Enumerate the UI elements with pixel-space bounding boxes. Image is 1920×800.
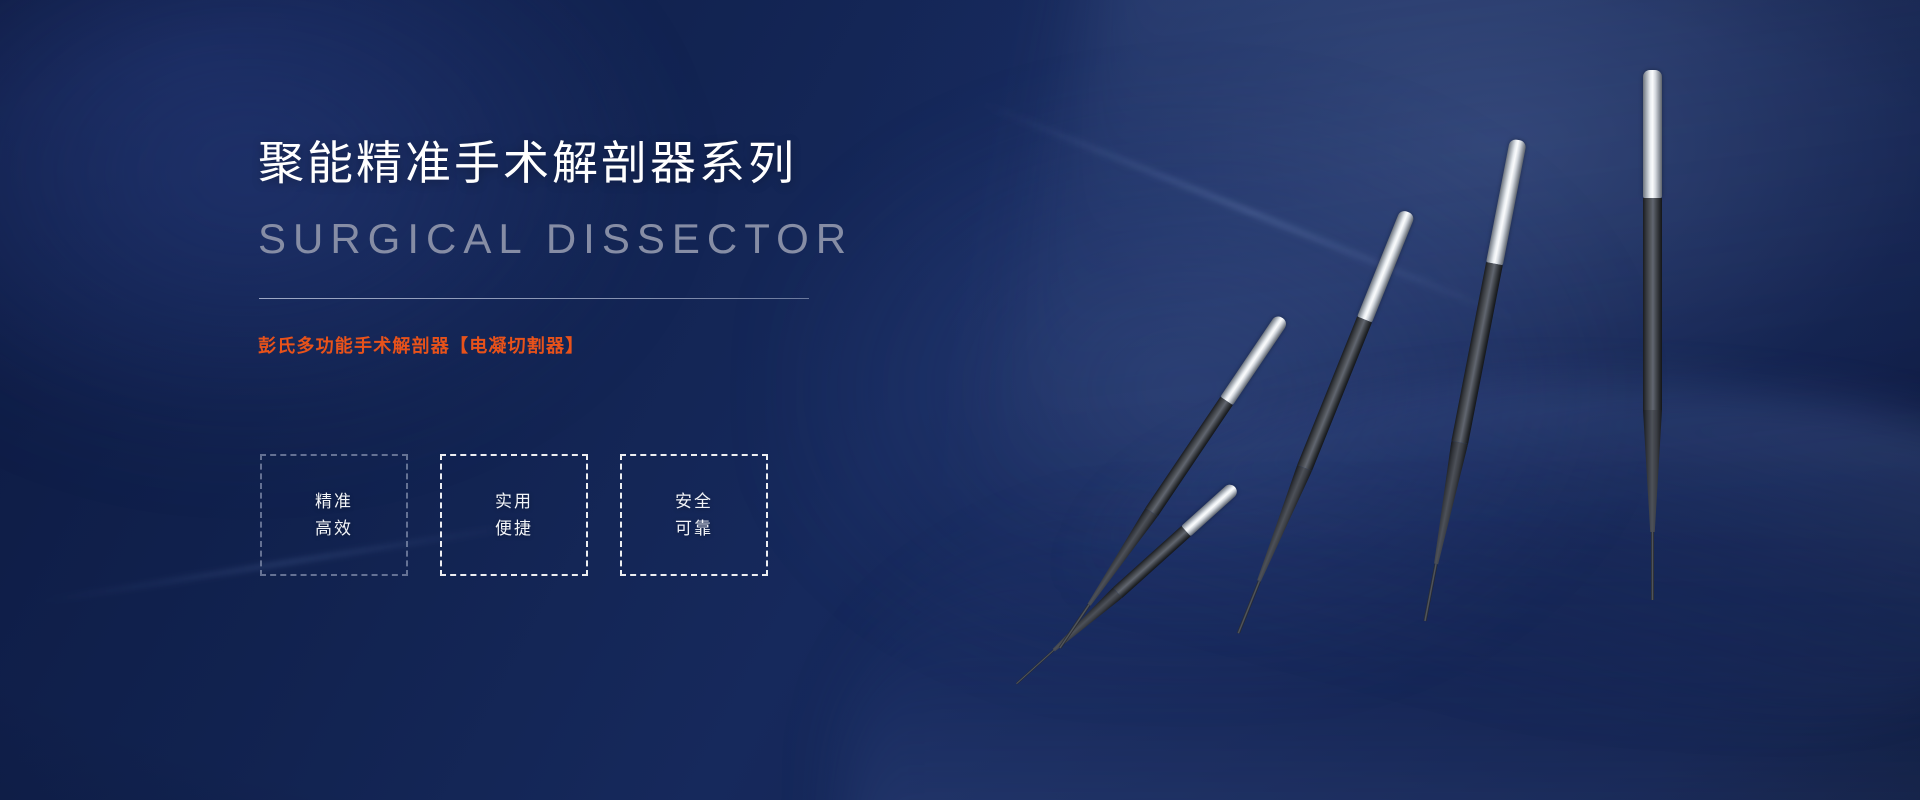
feature-precision-line2: 高效 (315, 520, 353, 537)
dissector-4-tip (1424, 564, 1438, 622)
dissector-5-tip (1651, 532, 1654, 600)
dissector-3-metal-cap (1357, 209, 1415, 323)
dissector-2 (1053, 314, 1289, 654)
feature-safety-line2: 可靠 (675, 520, 713, 537)
product-name-label: 彭氏多功能手术解剖器【电凝切割器】 (258, 337, 584, 355)
dissector-2-metal-cap (1220, 314, 1288, 405)
page-title: 聚能精准手术解剖器系列 (258, 140, 797, 186)
feature-safety-line1: 安全 (675, 493, 713, 510)
feature-box-group: 精准 高效 实用 便捷 安全 可靠 (260, 454, 768, 576)
dissector-4-shaft (1451, 262, 1502, 444)
dissector-5-taper (1643, 410, 1662, 532)
feature-practical-line2: 便捷 (495, 520, 533, 537)
product-banner: 聚能精准手术解剖器系列 SURGICAL DISSECTOR 彭氏多功能手术解剖… (0, 0, 1920, 800)
dissector-5-shaft (1643, 198, 1662, 410)
background-cloth-shape (1075, 384, 1920, 720)
dissector-3-shaft (1297, 317, 1372, 471)
dissector-1-metal-cap (1181, 482, 1239, 537)
feature-box-precision: 精准 高效 (260, 454, 408, 576)
title-divider (259, 298, 809, 299)
page-subtitle-english: SURGICAL DISSECTOR (258, 218, 853, 260)
dissector-2-shaft (1145, 397, 1232, 516)
background-light-beam (974, 0, 1920, 718)
dissector-1-shaft (1113, 526, 1191, 598)
dissector-4-metal-cap (1486, 138, 1527, 265)
dissector-3 (1232, 209, 1415, 632)
dissector-5-metal-cap (1643, 70, 1662, 198)
dissector-4 (1419, 138, 1527, 612)
dissector-3-tip (1237, 580, 1261, 633)
feature-precision-line1: 精准 (315, 493, 353, 510)
feature-box-safety: 安全 可靠 (620, 454, 768, 576)
dissector-4-taper (1428, 441, 1468, 566)
banner-text-block: 聚能精准手术解剖器系列 SURGICAL DISSECTOR 彭氏多功能手术解剖… (258, 0, 1078, 800)
dissector-3-taper (1251, 465, 1312, 584)
feature-box-practical: 实用 便捷 (440, 454, 588, 576)
feature-practical-line1: 实用 (495, 493, 533, 510)
dissector-2-taper (1083, 508, 1158, 609)
dissector-5 (1643, 70, 1662, 570)
